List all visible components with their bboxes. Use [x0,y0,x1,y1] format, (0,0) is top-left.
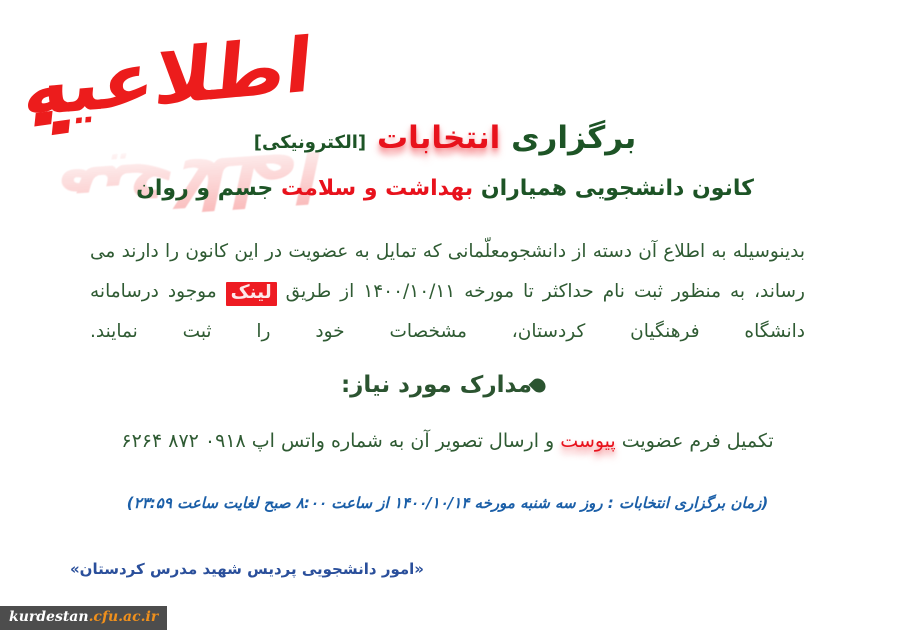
watermark-site-name: kurdestan [9,609,89,625]
headline-word-electronic: [الکترونیکی] [254,132,366,153]
headline-primary: برگزاری انتخابات [الکترونیکی] [30,118,860,160]
headline-word-bargozari: برگزاری [511,120,636,156]
site-watermark-badge: kurdestan.cfu.ac.ir [0,606,167,630]
documents-text-part2: و ارسال تصویر آن به شماره واتس اپ [252,430,554,452]
registration-link[interactable]: لینک [226,282,277,306]
issuing-office-signature: «امور دانشجویی پردیس شهید مدرس کردستان» [104,560,424,578]
documents-text-part1: تکمیل فرم عضویت [622,430,774,452]
required-documents-detail: تکمیل فرم عضویت پیوست و ارسال تصویر آن ب… [90,424,805,458]
headline-block: برگزاری انتخابات [الکترونیکی] کانون دانش… [30,118,860,205]
headline-secondary: کانون دانشجویی همیاران بهداشت و سلامت جس… [30,172,860,205]
announcement-poster: اطلاعیه اطلاعیه برگزاری انتخابات [الکترو… [0,0,900,636]
headline-org-part1: کانون دانشجویی همیاران [481,176,754,201]
required-documents-title: مدارک مورد نیاز: [90,372,805,398]
required-documents-label: مدارک مورد نیاز: [341,372,532,398]
election-time-note: (زمان برگزاری انتخابات : روز سه شنبه مور… [90,494,805,512]
announcement-body: بدینوسیله به اطلاع آن دسته از دانشجومعلّ… [90,232,805,352]
whatsapp-phone-number: ۰۹۱۸ ۸۷۲ ۶۲۶۴ [121,430,245,452]
attachment-form-link[interactable]: پیوست [560,430,615,452]
headline-org-part2: بهداشت و سلامت [281,176,473,201]
headline-org-part3: جسم و روان [136,176,273,201]
watermark-site-domain: .cfu.ac.ir [89,609,159,625]
headline-word-entekhabat: انتخابات [377,120,500,156]
